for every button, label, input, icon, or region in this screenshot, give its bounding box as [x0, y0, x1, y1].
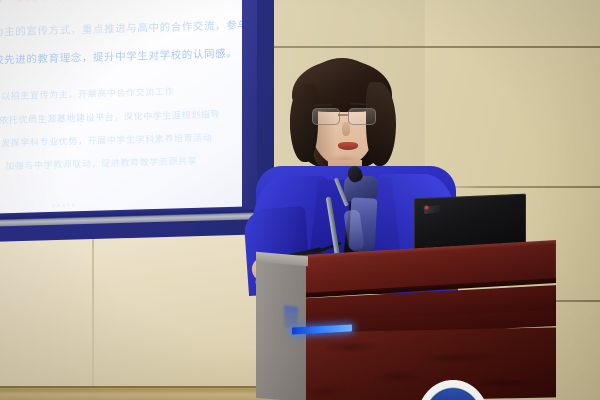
presentation-photo: 地，与高中开展实质性的合作 向为主的宣传方式，重点推进与高中的合作交流，参与中 …: [0, 0, 600, 400]
glasses-bridge: [338, 114, 348, 116]
sharp-brand-logo: SHARP: [52, 203, 77, 210]
thinkpad-red-dot-icon: [425, 206, 428, 209]
slide-content: 地，与高中开展实质性的合作 向为主的宣传方式，重点推进与高中的合作交流，参与中 …: [0, 0, 252, 226]
mouth: [338, 142, 358, 150]
slide-body-line-2: 学校先进的教育理念，提升中学生对学校的认同感。: [0, 46, 237, 68]
podium-emblem-inner: [424, 389, 482, 400]
scarf: [338, 176, 382, 252]
slide-body-line-1: 向为主的宣传方式，重点推进与高中的合作交流，参与中: [0, 17, 252, 40]
slide-faded-line-3: 三、发挥学科专业优势，开展中学生学科素养培育活动: [0, 130, 212, 149]
slide-heading: 地，与高中开展实质性的合作: [0, 0, 161, 6]
baseboard: [0, 386, 300, 400]
glasses-lens-right: [348, 108, 376, 125]
slide-faded-line-4: 四、加强与中学教师联动，促进教育教学资源共享: [0, 154, 197, 173]
podium: [262, 248, 562, 400]
podium-led-glow: [284, 305, 298, 329]
slide-faded-line-1: 一、以招生宣传为主，开展高中合作交流工作: [0, 85, 174, 103]
baseboard-edge: [0, 386, 300, 388]
display-screen: 地，与高中开展实质性的合作 向为主的宣传方式，重点推进与高中的合作交流，参与中 …: [0, 0, 252, 226]
nose: [342, 122, 350, 136]
glasses-lens-left: [312, 108, 340, 125]
projection-display: 地，与高中开展实质性的合作 向为主的宣传方式，重点推进与高中的合作交流，参与中 …: [0, 0, 274, 238]
slide-faded-line-2: 二、依托优质生源基地建设平台，深化中学生涯规划指导: [0, 107, 220, 127]
wall-vertical-seam: [92, 232, 94, 400]
